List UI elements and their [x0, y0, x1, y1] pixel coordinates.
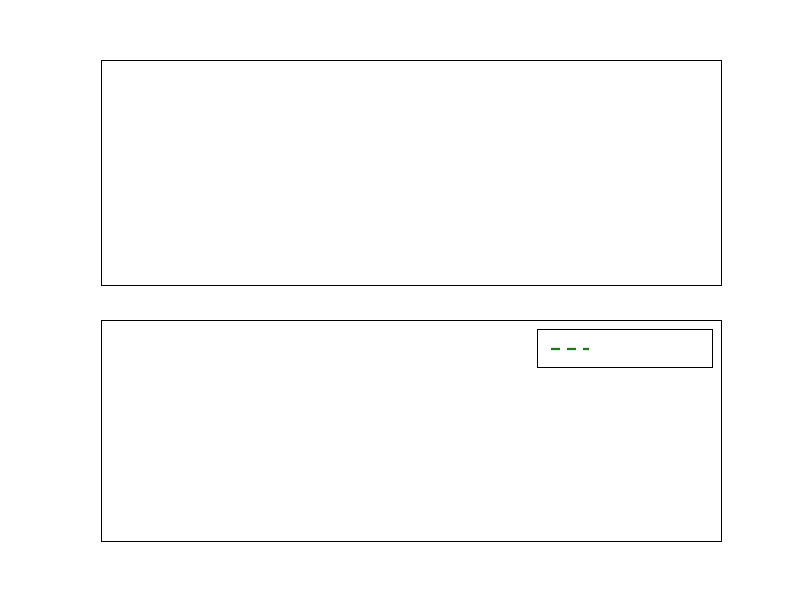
top-panel-xtick-labels: [101, 291, 722, 311]
legend-entry-mag-limit: [538, 330, 712, 367]
figure-canvas: [0, 0, 800, 600]
top-panel-ytick-labels: [49, 60, 95, 286]
histogram-plot: [102, 61, 721, 285]
bottom-panel-xtick-labels: [101, 547, 722, 567]
legend: [537, 329, 713, 368]
dashed-line-icon: [550, 344, 590, 354]
bottom-panel-ytick-labels: [49, 320, 95, 542]
top-panel-axes: [101, 60, 722, 286]
